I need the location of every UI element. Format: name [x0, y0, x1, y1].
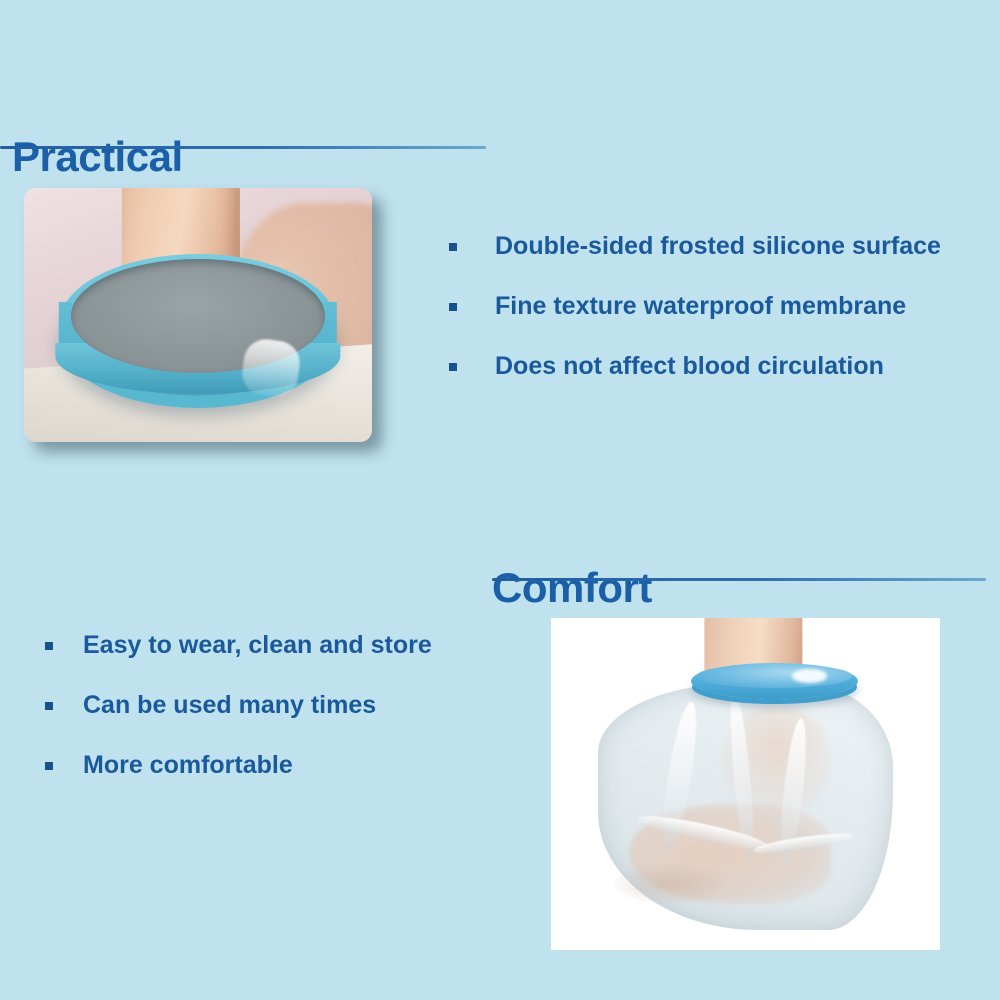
- list-item: More comfortable: [45, 736, 432, 796]
- list-item: Fine texture waterproof membrane: [449, 277, 941, 337]
- bullet-square-icon: [45, 702, 53, 710]
- feature-text: Double-sided frosted silicone surface: [495, 233, 941, 261]
- list-item: Double-sided frosted silicone surface: [449, 217, 941, 277]
- section-heading-practical: Practical: [12, 136, 183, 178]
- bullet-square-icon: [449, 303, 457, 311]
- feature-text: Easy to wear, clean and store: [83, 632, 432, 660]
- list-item: Does not affect blood circulation: [449, 337, 941, 397]
- product-feature-infographic: Practical Double-sided frosted silicone …: [0, 0, 1000, 1000]
- heading-divider-practical: [0, 146, 486, 149]
- feature-list-comfort: Easy to wear, clean and store Can be use…: [45, 616, 432, 796]
- feature-text: Fine texture waterproof membrane: [495, 293, 906, 321]
- bullet-square-icon: [449, 243, 457, 251]
- list-item: Can be used many times: [45, 676, 432, 736]
- feature-text: More comfortable: [83, 752, 293, 780]
- list-item: Easy to wear, clean and store: [45, 616, 432, 676]
- feature-list-practical: Double-sided frosted silicone surface Fi…: [449, 217, 941, 397]
- section-heading-comfort: Comfort: [492, 567, 652, 609]
- bullet-square-icon: [45, 762, 53, 770]
- photo-blue-seal-ring-top: [697, 664, 853, 687]
- heading-divider-comfort: [492, 578, 986, 581]
- feature-text: Does not affect blood circulation: [495, 353, 884, 381]
- photo-ring-highlight: [792, 669, 827, 682]
- product-photo-foot-cover: [551, 618, 940, 950]
- feature-text: Can be used many times: [83, 692, 376, 720]
- bullet-square-icon: [449, 363, 457, 371]
- bullet-square-icon: [45, 642, 53, 650]
- photo-toes-through-bag: [613, 864, 730, 904]
- product-photo-silicone-ring: [24, 188, 372, 442]
